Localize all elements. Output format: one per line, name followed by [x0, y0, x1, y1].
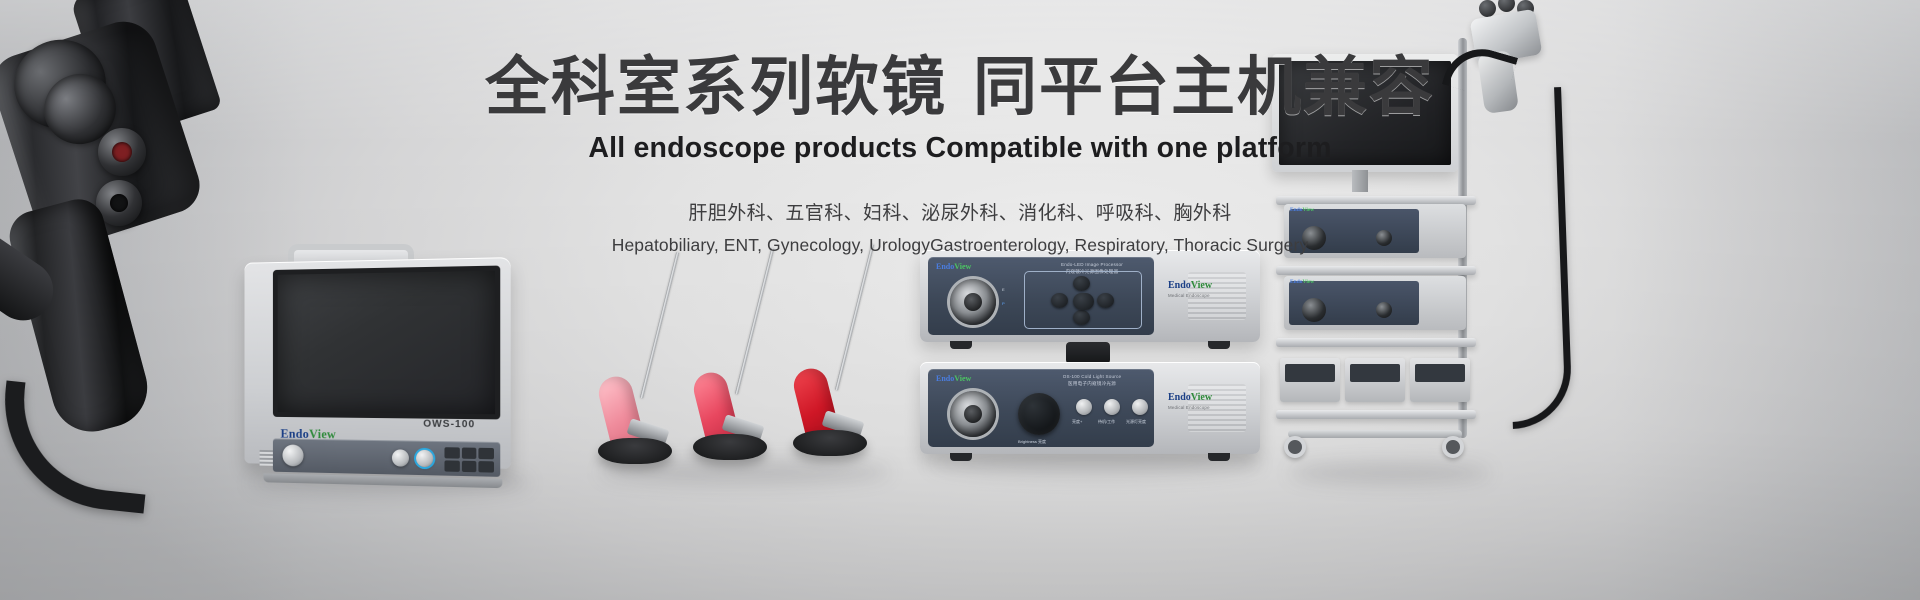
- processor-label-p: P: [1002, 301, 1005, 306]
- lightsource-side-brand: EndoView: [1168, 392, 1212, 403]
- processor-label-e: E: [1002, 287, 1005, 292]
- lightsource-button-2[interactable]: [1104, 399, 1120, 415]
- processor-foot-left: [950, 341, 972, 349]
- lightsource-scope-socket: [950, 391, 996, 437]
- stack-spacer: [1066, 342, 1110, 364]
- workstation-scope-connector: [282, 444, 303, 466]
- cart-accessory-2: [1345, 358, 1405, 402]
- cart-caster-left: [1284, 436, 1306, 458]
- lightsource-foot-left: [950, 453, 972, 461]
- processor-scope-socket: [950, 279, 996, 325]
- instrument-shaft: [640, 252, 679, 398]
- cart-unit-2: EndoView: [1284, 276, 1466, 330]
- processor-side-brand: EndoView: [1168, 280, 1212, 291]
- cart-shelf-4: [1276, 410, 1476, 419]
- workstation-model-label: OWS-100: [423, 419, 475, 431]
- image-processor-unit: EndoView Endo-LED Image Processor 内窥镜冷光源…: [920, 250, 1260, 342]
- lightsource-front-panel: EndoView OS-100 Cold Light Source 医用电子内窥…: [928, 369, 1154, 447]
- cart-unit-2-brand: EndoView: [1290, 279, 1314, 285]
- processor-brand: EndoView: [936, 262, 971, 271]
- lightsource-side-subtitle: Medical Endoscope: [1168, 405, 1210, 410]
- workstation-port-2: [392, 449, 409, 466]
- workstation-case: OWS-100 EndoView: [245, 257, 511, 469]
- workstation-port-highlighted: [416, 450, 433, 468]
- instrument-shaft: [835, 244, 874, 390]
- lightsource-foot-right: [1208, 453, 1230, 461]
- subtitle: All endoscope products Compatible with o…: [0, 132, 1920, 165]
- lightsource-brightness-dial[interactable]: [1018, 393, 1060, 435]
- processor-dpad: [1024, 271, 1142, 329]
- cart-accessory-tray: [1280, 350, 1470, 402]
- cart-shelf-3: [1276, 338, 1476, 347]
- lightsource-label-3: 光源灯亮度: [1126, 419, 1146, 425]
- lightsource-brand: EndoView: [936, 374, 971, 383]
- cart-unit-2-dial: [1302, 298, 1326, 322]
- scope-insertion-tube: [0, 380, 156, 513]
- instrument-stand: [693, 434, 767, 460]
- banner-text-block: 全科室系列软镜同平台主机兼容 All endoscope products Co…: [0, 52, 1920, 260]
- lightsource-dial-label: Brightness 亮度: [1018, 439, 1046, 445]
- workstation-vent: [260, 450, 273, 466]
- dpad-mode-button[interactable]: [1073, 293, 1094, 310]
- processor-front-panel: EndoView Endo-LED Image Processor 内窥镜冷光源…: [928, 257, 1154, 335]
- laparoscopic-instrument-red: [775, 240, 895, 470]
- workstation-keypad: [444, 447, 494, 472]
- instrument-stand: [793, 430, 867, 456]
- cart-unit-2-knob: [1376, 302, 1392, 318]
- instrument-stand: [598, 438, 672, 464]
- dpad-up-button[interactable]: [1073, 276, 1090, 291]
- instrument-shaft: [735, 248, 774, 394]
- lightsource-label-1: 亮度+: [1072, 419, 1082, 425]
- lightsource-button-1[interactable]: [1076, 399, 1092, 415]
- workstation-display: [273, 266, 500, 420]
- processor-side-subtitle: Medical Endoscope: [1168, 293, 1210, 298]
- dpad-right-button[interactable]: [1097, 293, 1114, 308]
- cart-shelf-2: [1276, 266, 1476, 275]
- headline-part-2: 同平台主机兼容: [973, 51, 1435, 123]
- endoview-processor-stack: EndoView Endo-LED Image Processor 内窥镜冷光源…: [920, 250, 1270, 470]
- processor-foot-right: [1208, 341, 1230, 349]
- headline-part-1: 全科室系列软镜: [485, 51, 947, 123]
- cart-accessory-1: [1280, 358, 1340, 402]
- dpad-left-button[interactable]: [1051, 293, 1068, 308]
- light-source-unit: EndoView OS-100 Cold Light Source 医用电子内窥…: [920, 362, 1260, 454]
- ows-100-workstation: OWS-100 EndoView: [232, 248, 532, 498]
- lightsource-caption: OS-100 Cold Light Source 医用电子内窥镜冷光源: [1038, 374, 1146, 388]
- product-banner: OWS-100 EndoView: [0, 0, 1920, 600]
- cart-base: [1288, 430, 1462, 438]
- lightsource-label-2: 待机/工作: [1098, 419, 1115, 425]
- headline: 全科室系列软镜同平台主机兼容: [0, 52, 1920, 124]
- description-cn: 肝胆外科、五官科、妇科、泌尿外科、消化科、呼吸科、胸外科: [0, 199, 1920, 230]
- lightsource-button-3[interactable]: [1132, 399, 1148, 415]
- dpad-down-button[interactable]: [1073, 310, 1090, 325]
- description-en: Hepatobiliary, ENT, Gynecology, UrologyG…: [0, 231, 1920, 259]
